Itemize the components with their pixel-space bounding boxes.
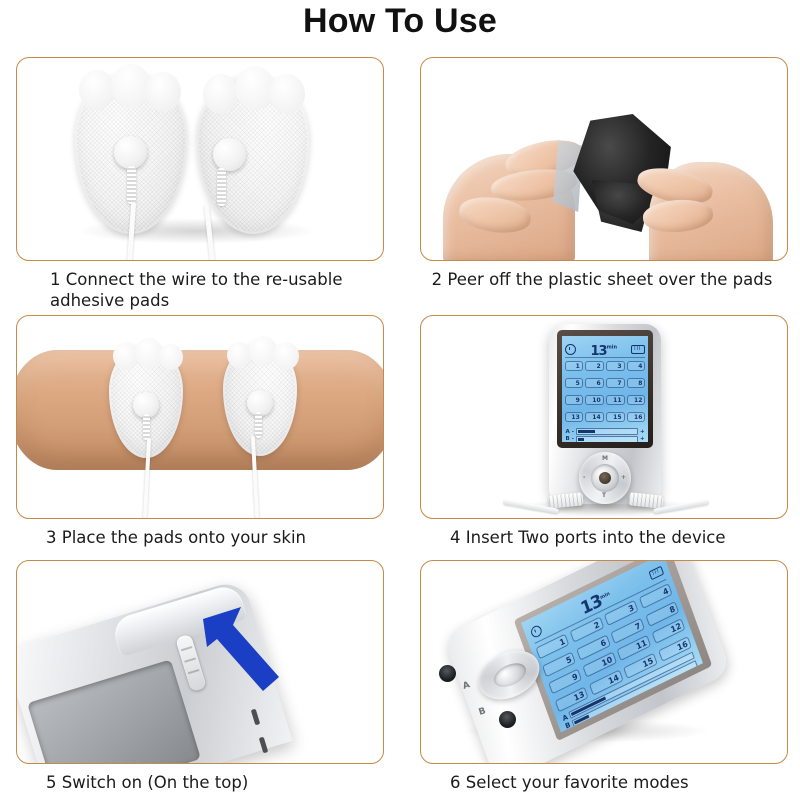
step-1-caption: 1 Connect the wire to the re-usable adhe… <box>16 269 384 311</box>
applied-pad-left-lobe-c <box>159 344 183 370</box>
channel-a-track[interactable] <box>576 428 638 435</box>
device-top-edge-illustration <box>17 561 383 763</box>
mode-key-14[interactable]: 14 <box>585 412 603 422</box>
mode-key-12[interactable]: 12 <box>627 395 645 405</box>
page-title: How To Use <box>0 2 800 41</box>
step-card-4: 13min III 1 2 3 4 5 <box>420 315 788 548</box>
channel-b-label: B <box>565 436 569 442</box>
applied-pad-right-lobe-c <box>273 342 299 370</box>
pad-left-wire-coil <box>127 166 136 204</box>
port-a-jack[interactable] <box>439 665 456 682</box>
step-card-1: 1 Connect the wire to the re-usable adhe… <box>16 57 384 311</box>
mode-button-label[interactable]: M <box>602 455 608 462</box>
step-1-image <box>16 57 384 261</box>
step-card-6: 13min III 1 2 3 4 5 6 <box>420 560 788 793</box>
channel-a-minus[interactable]: - <box>572 429 574 435</box>
tens-lcd-screen: 13min III 1 2 3 4 5 <box>562 336 648 442</box>
mode-key-4[interactable]: 4 <box>627 361 645 371</box>
mode-key-5[interactable]: 5 <box>565 378 583 388</box>
step-5-caption: 5 Switch on (On the top) <box>16 772 384 793</box>
navigation-pad-center-button[interactable] <box>599 472 611 484</box>
channel-b-minus[interactable]: - <box>572 436 574 442</box>
channel-a-plus[interactable]: + <box>640 429 645 435</box>
electrode-pads-illustration <box>17 58 383 260</box>
mode-key-2[interactable]: 2 <box>585 361 603 371</box>
channel-b-plus[interactable]: + <box>640 436 645 442</box>
clock-icon-angled <box>530 624 544 639</box>
pad-right-lobe-c <box>269 74 305 114</box>
tens-unit-front-illustration: 13min III 1 2 3 4 5 <box>421 316 787 518</box>
timer-button-label[interactable]: T <box>602 492 606 499</box>
applied-pad-right-lobe-a <box>227 342 251 368</box>
step-1-caption-line2: adhesive pads <box>50 290 380 311</box>
mode-key-11[interactable]: 11 <box>606 395 624 405</box>
step-6-caption: 6 Select your favorite modes <box>420 772 788 793</box>
mode-key-16[interactable]: 16 <box>627 412 645 422</box>
mode-key-6[interactable]: 6 <box>585 378 603 388</box>
step-5-image <box>16 560 384 764</box>
pad-right-wire-coil <box>217 168 226 206</box>
pads-on-arm-illustration <box>17 316 383 518</box>
step-2-image <box>420 57 788 261</box>
mode-key-9[interactable]: 9 <box>565 395 583 405</box>
step-5-caption-line1: 5 Switch on (On the top) <box>46 772 380 793</box>
mode-key-8[interactable]: 8 <box>627 378 645 388</box>
step-6-image: 13min III 1 2 3 4 5 6 <box>420 560 788 764</box>
lcd-mode-row-1: 1 2 3 4 <box>565 361 646 371</box>
channel-b-intensity: B - + <box>565 436 644 442</box>
peeling-film-illustration <box>421 58 787 260</box>
step-card-3: 3 Place the pads onto your skin <box>16 315 384 548</box>
forearm <box>16 350 384 470</box>
step-3-caption: 3 Place the pads onto your skin <box>16 527 384 548</box>
channel-a-label: A <box>565 429 569 435</box>
mode-key-7[interactable]: 7 <box>606 378 624 388</box>
mode-key-3[interactable]: 3 <box>606 361 624 371</box>
mode-key-13[interactable]: 13 <box>565 412 583 422</box>
step-4-caption-line1: 4 Insert Two ports into the device <box>450 527 784 548</box>
step-card-5: 5 Switch on (On the top) <box>16 560 384 793</box>
mode-key-10[interactable]: 10 <box>585 395 603 405</box>
pad-right-lobe-a <box>203 74 239 114</box>
channel-b-track[interactable] <box>576 436 638 442</box>
plus-button-label[interactable]: + <box>621 474 626 481</box>
lcd-mode-row-2: 5 6 7 8 <box>565 378 646 388</box>
lcd-timer-unit: min <box>607 345 617 351</box>
applied-pad-left-coil <box>143 414 150 440</box>
step-4-image: 13min III 1 2 3 4 5 <box>420 315 788 519</box>
mode-key-15[interactable]: 15 <box>606 412 624 422</box>
battery-icon-angled: III <box>649 566 664 580</box>
pad-right-snap-connector <box>213 138 246 171</box>
step-3-caption-line1: 3 Place the pads onto your skin <box>46 527 380 548</box>
step-3-image <box>16 315 384 519</box>
channel-a-intensity: A - + <box>565 428 644 435</box>
minus-button-label[interactable]: - <box>583 474 586 481</box>
step-2-caption: 2 Peer off the plastic sheet over the pa… <box>420 269 788 290</box>
battery-icon: III <box>631 345 644 354</box>
step-2-caption-line1: 2 Peer off the plastic sheet over the pa… <box>420 269 784 290</box>
applied-pad-right-coil <box>255 412 262 438</box>
lcd-mode-row-3: 9 10 11 12 <box>565 395 646 405</box>
steps-grid: 1 Connect the wire to the re-usable adhe… <box>16 57 786 797</box>
lcd-mode-row-4: 13 14 15 16 <box>565 412 646 422</box>
mode-key-1[interactable]: 1 <box>565 361 583 371</box>
step-6-caption-line1: 6 Select your favorite modes <box>450 772 784 793</box>
step-4-caption: 4 Insert Two ports into the device <box>420 527 788 548</box>
clock-icon <box>565 344 576 355</box>
pad-left-lobe-c <box>145 72 181 112</box>
how-to-use-infographic: How To Use <box>0 0 800 800</box>
step-1-caption-line1: 1 Connect the wire to the re-usable <box>50 269 380 290</box>
tens-unit-angled-illustration: 13min III 1 2 3 4 5 6 <box>421 561 787 763</box>
pad-left-lobe-a <box>79 70 115 110</box>
blue-arrow-pointer <box>193 599 323 709</box>
lcd-timer-unit-angled: min <box>599 590 610 600</box>
pad-left-snap-connector <box>114 136 147 169</box>
port-b-jack[interactable] <box>499 711 516 728</box>
step-card-2: 2 Peer off the plastic sheet over the pa… <box>420 57 788 290</box>
